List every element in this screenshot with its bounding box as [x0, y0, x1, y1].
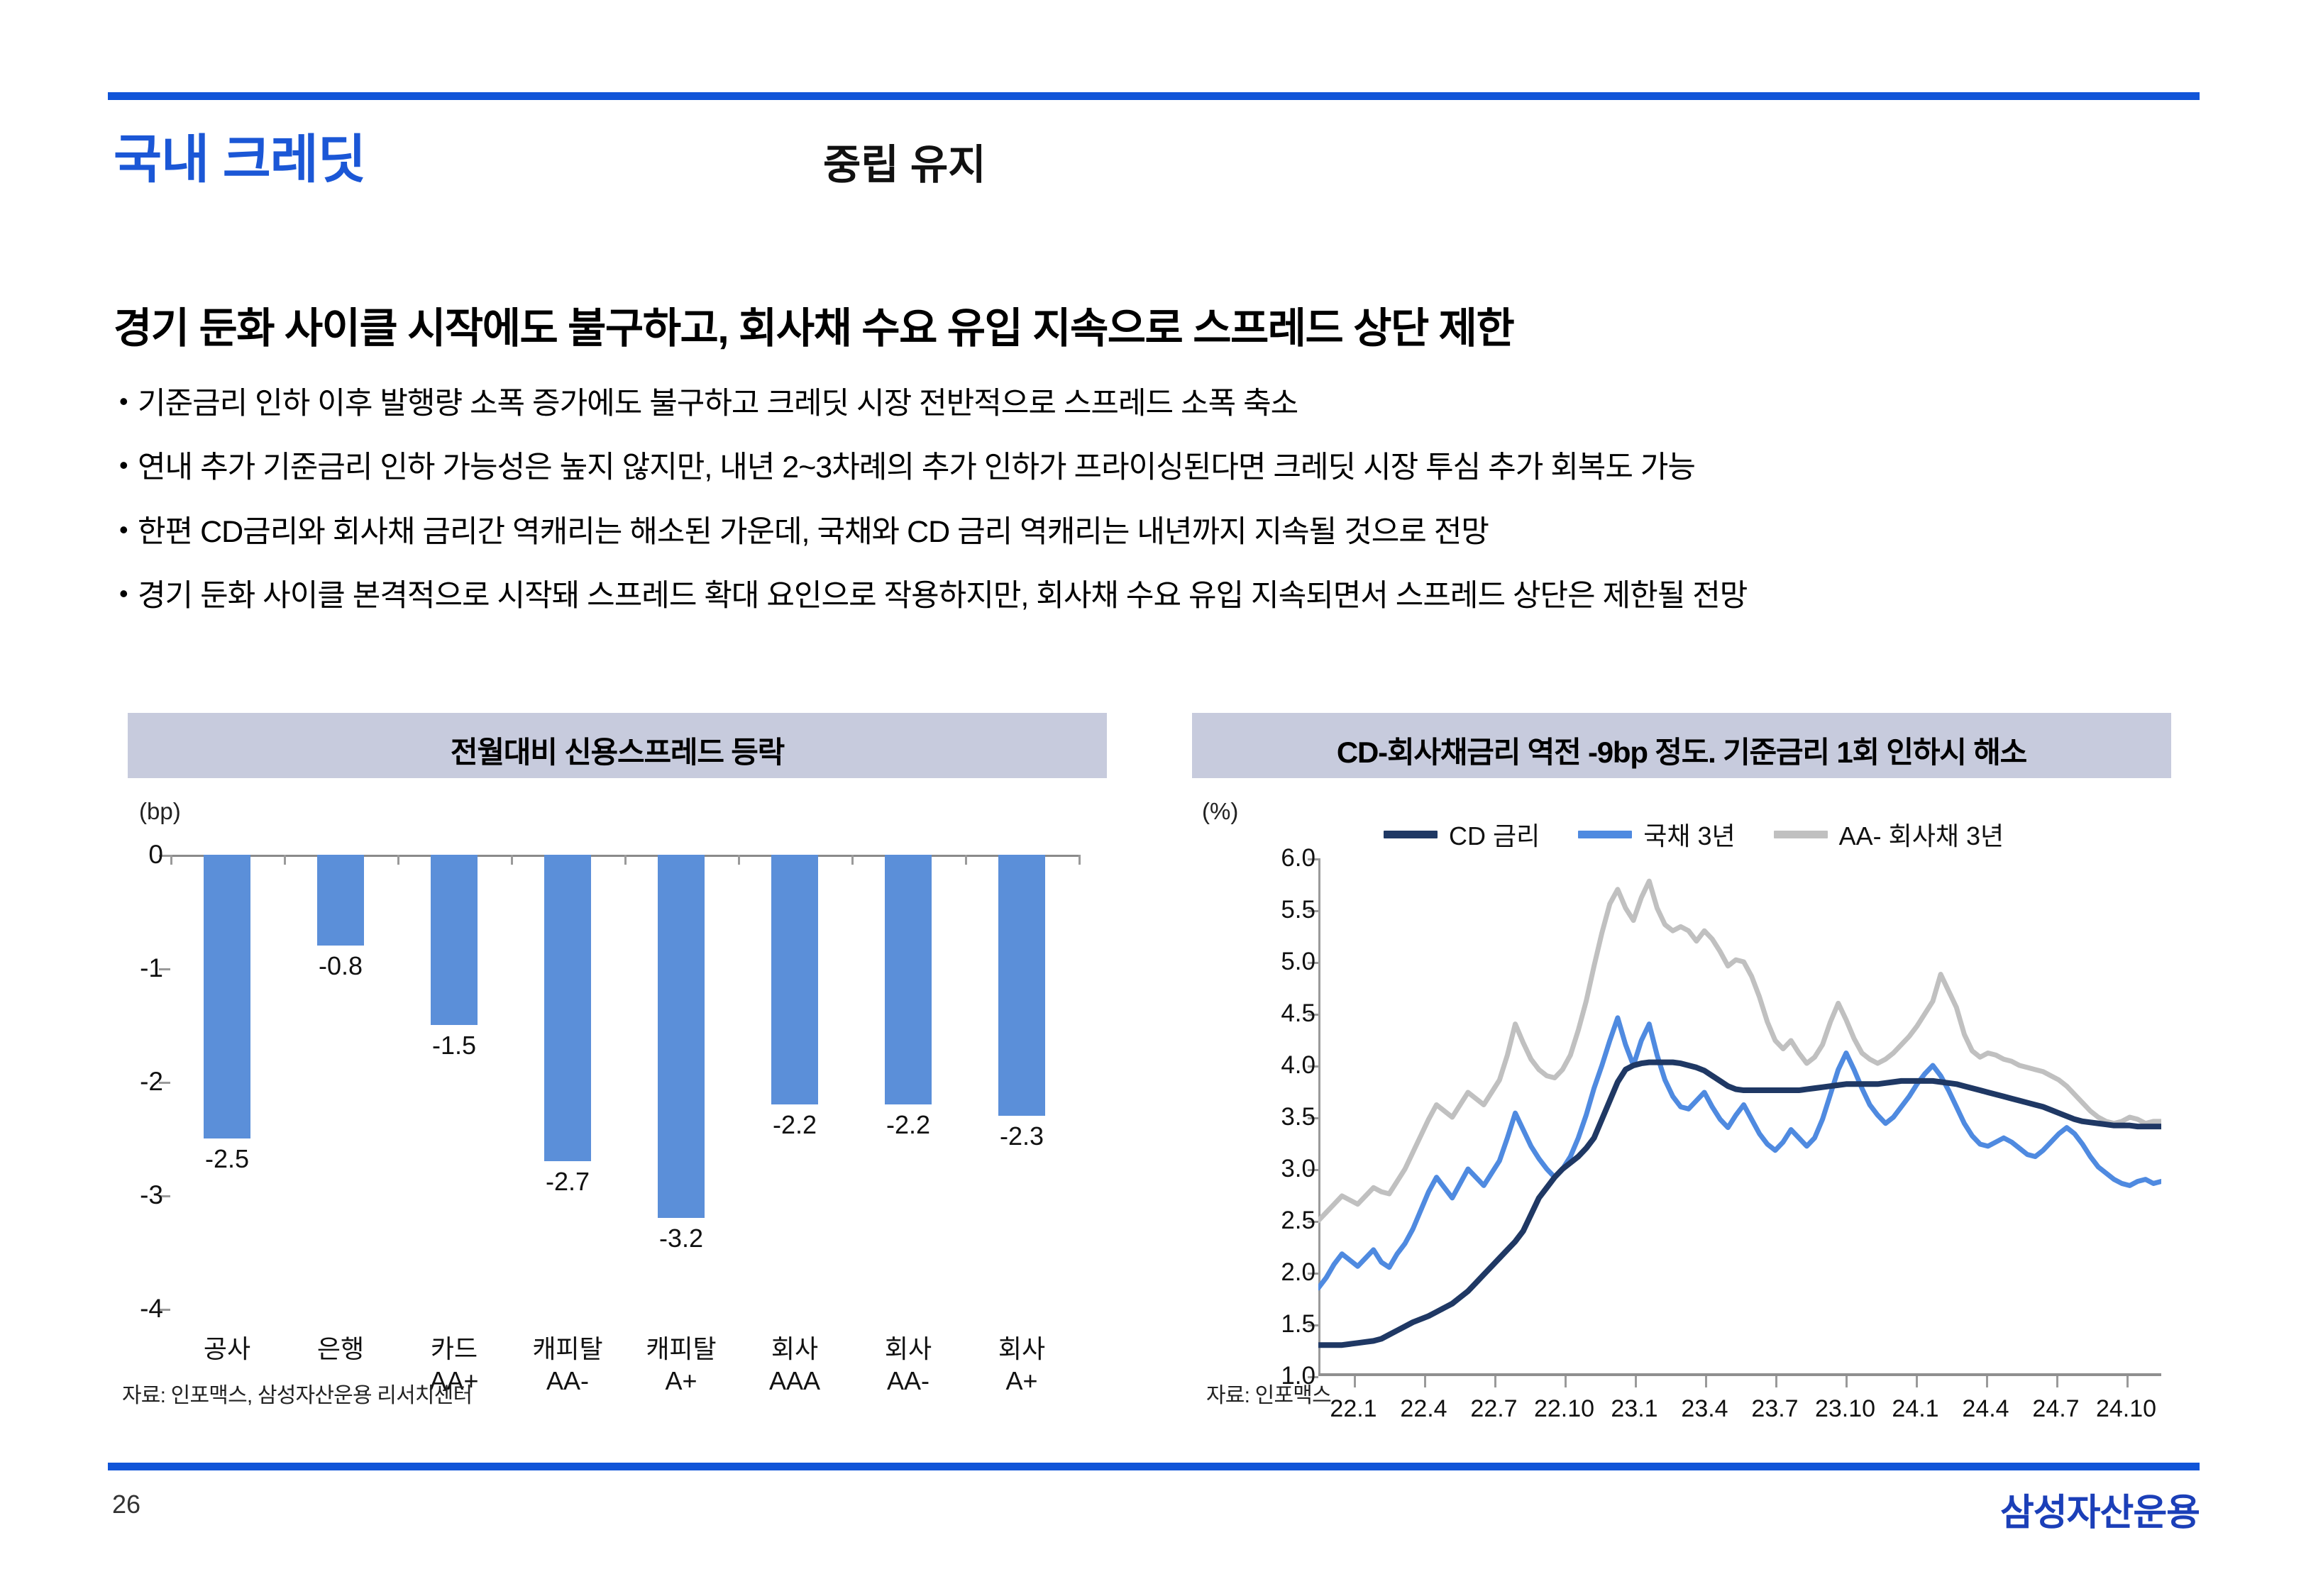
bar-value-label: -0.8	[287, 951, 394, 981]
bar-x-tick	[1078, 855, 1081, 865]
list-item: • 연내 추가 기준금리 인하 가능성은 높지 않지만, 내년 2~3차례의 추…	[119, 450, 2177, 485]
legend-swatch-icon	[1774, 831, 1828, 838]
bar-y-tick-label: -2	[78, 1067, 163, 1097]
line-chart-legend: CD 금리국채 3년AA- 회사채 3년	[1384, 816, 2004, 853]
line-x-tick	[1424, 1376, 1426, 1387]
line-plot-area: 22.122.422.722.1023.123.423.723.1024.124…	[1318, 858, 2161, 1376]
line-y-tick-label: 4.0	[1216, 1051, 1315, 1080]
bar-value-label: -2.5	[174, 1144, 280, 1174]
bar	[204, 855, 250, 1138]
line-x-tick	[1916, 1376, 1918, 1387]
bar	[431, 855, 478, 1025]
right-chart-panel: CD-회사채금리 역전 -9bp 정도. 기준금리 1회 인하시 해소	[1192, 713, 2171, 778]
line-series-path	[1318, 1018, 2161, 1288]
line-x-tick	[1846, 1376, 1848, 1387]
line-x-tick	[1705, 1376, 1707, 1387]
bullet-dot-icon: •	[119, 579, 138, 608]
line-y-tick-label: 5.5	[1216, 896, 1315, 924]
line-x-tick	[2126, 1376, 2129, 1387]
line-x-tick	[1775, 1376, 1777, 1387]
bullet-list: • 기준금리 인하 이후 발행량 소폭 증가에도 불구하고 크레딧 시장 전반적…	[119, 387, 2177, 643]
legend-swatch-icon	[1384, 831, 1438, 838]
line-y-tick-label: 2.0	[1216, 1258, 1315, 1287]
legend-label: CD 금리	[1449, 816, 1540, 853]
bullet-text: 경기 둔화 사이클 본격적으로 시작돼 스프레드 확대 요인으로 작용하지만, …	[138, 579, 1747, 614]
legend-item: CD 금리	[1384, 816, 1540, 853]
bullet-dot-icon: •	[119, 450, 138, 480]
bar-x-tick	[965, 855, 967, 865]
bullet-text: 연내 추가 기준금리 인하 가능성은 높지 않지만, 내년 2~3차례의 추가 …	[138, 450, 1695, 485]
left-chart-title: 전월대비 신용스프레드 등락	[128, 713, 1107, 778]
line-series-path	[1318, 881, 2161, 1221]
line-x-tick	[1565, 1376, 1567, 1387]
line-series-path	[1318, 1063, 2161, 1346]
bar-value-label: -2.2	[855, 1110, 961, 1140]
bar-x-tick	[397, 855, 399, 865]
line-x-tick	[1354, 1376, 1356, 1387]
line-y-tick-label: 3.5	[1216, 1103, 1315, 1131]
line-series-svg	[1318, 858, 2161, 1376]
bottom-rule	[108, 1463, 2200, 1470]
bar-x-tick	[738, 855, 740, 865]
bullet-text: 한편 CD금리와 회사채 금리간 역캐리는 해소된 가운데, 국채와 CD 금리…	[138, 515, 1489, 550]
bar	[771, 855, 818, 1104]
line-y-tick-label: 3.0	[1216, 1155, 1315, 1183]
bar-value-label: -2.3	[969, 1121, 1075, 1151]
bar	[544, 855, 591, 1161]
line-x-tick-label: 24.10	[2063, 1395, 2190, 1423]
bullet-text: 기준금리 인하 이후 발행량 소폭 증가에도 불구하고 크레딧 시장 전반적으로…	[138, 387, 1298, 421]
bar-x-tick	[170, 855, 172, 865]
line-y-tick-label: 6.0	[1216, 844, 1315, 872]
line-x-tick	[1635, 1376, 1637, 1387]
headline: 경기 둔화 사이클 시작에도 불구하고, 회사채 수요 유입 지속으로 스프레드…	[114, 294, 1513, 355]
legend-swatch-icon	[1578, 831, 1632, 838]
bar	[658, 855, 705, 1218]
list-item: • 경기 둔화 사이클 본격적으로 시작돼 스프레드 확대 요인으로 작용하지만…	[119, 579, 2177, 614]
legend-item: 국채 3년	[1578, 816, 1735, 853]
page-title: 국내 크레딧	[114, 117, 365, 193]
bar-y-tick-label: -4	[78, 1294, 163, 1324]
line-y-tick-label: 1.5	[1216, 1310, 1315, 1339]
bar	[317, 855, 364, 946]
bullet-dot-icon: •	[119, 387, 138, 416]
bar-x-tick	[624, 855, 627, 865]
bar	[998, 855, 1045, 1116]
right-chart-title: CD-회사채금리 역전 -9bp 정도. 기준금리 1회 인하시 해소	[1192, 713, 2171, 778]
bullet-dot-icon: •	[119, 515, 138, 544]
bar-y-tick-label: -1	[78, 953, 163, 983]
slide: 국내 크레딧 중립 유지 경기 둔화 사이클 시작에도 불구하고, 회사채 수요…	[0, 0, 2306, 1596]
bar-value-label: -1.5	[401, 1031, 507, 1060]
line-x-tick	[1986, 1376, 1988, 1387]
right-chart-source: 자료: 인포맥스	[1206, 1378, 1331, 1409]
bar-y-tick-label: -3	[78, 1180, 163, 1210]
bar-category-label: 회사A+	[954, 1333, 1089, 1397]
bar-plot-area	[170, 855, 1078, 1309]
bar-value-label: -2.7	[514, 1167, 621, 1197]
legend-item: AA- 회사채 3년	[1774, 816, 2004, 853]
bar-x-tick	[284, 855, 286, 865]
line-x-tick	[1494, 1376, 1496, 1387]
bar-y-tick-label: 0	[78, 840, 163, 870]
line-y-tick-label: 5.0	[1216, 948, 1315, 976]
page-number: 26	[112, 1490, 140, 1519]
bar-value-label: -3.2	[628, 1224, 734, 1253]
bar-x-tick	[511, 855, 513, 865]
list-item: • 한편 CD금리와 회사채 금리간 역캐리는 해소된 가운데, 국채와 CD …	[119, 515, 2177, 550]
left-chart-source: 자료: 인포맥스, 삼성자산운용 리서치센터	[122, 1378, 472, 1409]
rates-line-chart: CD 금리국채 3년AA- 회사채 3년22.122.422.722.1023.…	[1192, 816, 2178, 1390]
line-y-tick-label: 2.5	[1216, 1207, 1315, 1235]
line-x-tick	[2056, 1376, 2058, 1387]
left-chart-panel: 전월대비 신용스프레드 등락	[128, 713, 1107, 778]
list-item: • 기준금리 인하 이후 발행량 소폭 증가에도 불구하고 크레딧 시장 전반적…	[119, 387, 2177, 421]
left-chart-unit: (bp)	[139, 798, 181, 825]
line-y-tick-label: 4.5	[1216, 999, 1315, 1028]
brand-logo: 삼성자산운용	[2000, 1483, 2200, 1536]
bar	[885, 855, 932, 1104]
legend-label: 국채 3년	[1643, 816, 1735, 853]
top-rule	[108, 92, 2200, 100]
bar-value-label: -2.2	[741, 1110, 848, 1140]
credit-spread-bar-chart: 0-1-2-3-4-2.5공사-0.8은행-1.5카드AA+-2.7캐피탈AA-…	[128, 830, 1114, 1390]
page-subtitle: 중립 유지	[823, 131, 986, 191]
legend-label: AA- 회사채 3년	[1839, 816, 2004, 853]
bar-x-tick	[851, 855, 854, 865]
